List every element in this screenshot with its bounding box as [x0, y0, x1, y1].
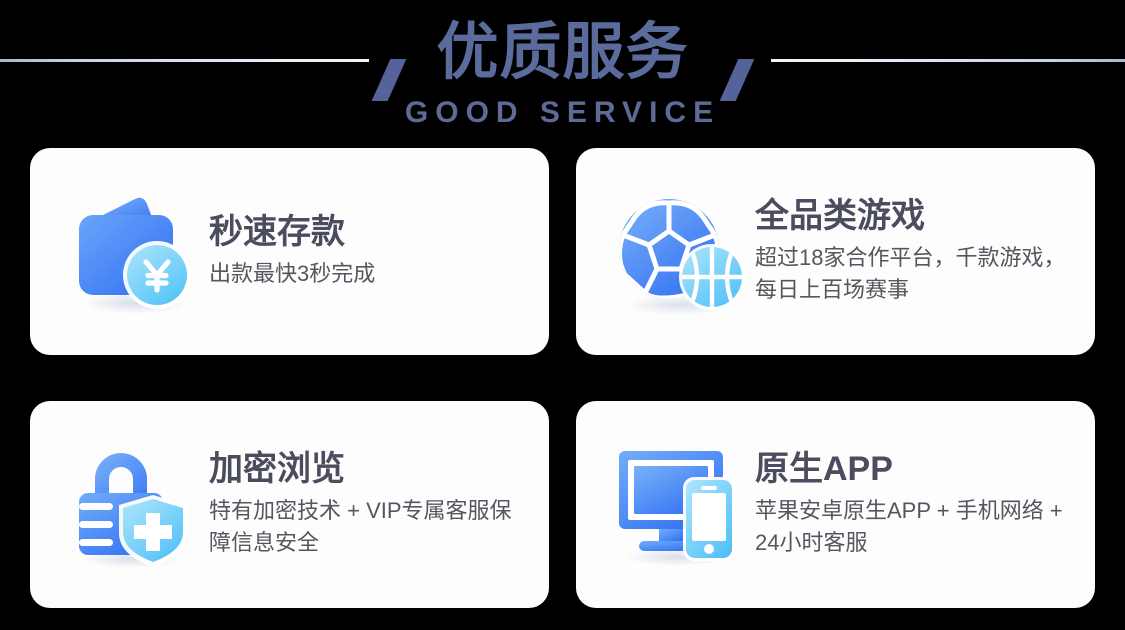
- feature-card-desc: 苹果安卓原生APP + 手机网络 + 24小时客服: [755, 495, 1073, 557]
- lock-shield-icon: [60, 432, 205, 577]
- title-row: 优质服务: [0, 14, 1125, 92]
- feature-card-encryption[interactable]: 加密浏览 特有加密技术 + VIP专属客服保障信息安全: [30, 401, 549, 608]
- feature-card-desc: 特有加密技术 + VIP专属客服保障信息安全: [209, 495, 527, 557]
- soccer-basketball-icon: [606, 179, 751, 324]
- monitor-phone-icon: [606, 432, 751, 577]
- decorative-rule-right: [699, 23, 1125, 83]
- rule-slash-left: [371, 59, 406, 101]
- feature-card-games[interactable]: 全品类游戏 超过18家合作平台，千款游戏，每日上百场赛事: [576, 148, 1095, 355]
- page-title: 优质服务: [427, 22, 699, 84]
- feature-card-text: 全品类游戏 超过18家合作平台，千款游戏，每日上百场赛事: [751, 198, 1077, 305]
- feature-card-native-app[interactable]: 原生APP 苹果安卓原生APP + 手机网络 + 24小时客服: [576, 401, 1095, 608]
- decorative-rule-left: [0, 23, 427, 83]
- feature-card-title: 秒速存款: [209, 214, 527, 251]
- rule-line-right: [771, 59, 1125, 62]
- feature-card-title: 原生APP: [755, 451, 1073, 488]
- page-subtitle: GOOD SERVICE: [0, 98, 1125, 128]
- feature-card-desc: 出款最快3秒完成: [209, 258, 527, 289]
- feature-card-text: 加密浏览 特有加密技术 + VIP专属客服保障信息安全: [205, 451, 531, 558]
- feature-card-text: 原生APP 苹果安卓原生APP + 手机网络 + 24小时客服: [751, 451, 1077, 558]
- feature-card-deposit[interactable]: 秒速存款 出款最快3秒完成: [30, 148, 549, 355]
- feature-card-desc: 超过18家合作平台，千款游戏，每日上百场赛事: [755, 242, 1073, 304]
- feature-card-title: 加密浏览: [209, 451, 527, 488]
- feature-card-grid: 秒速存款 出款最快3秒完成: [30, 148, 1095, 608]
- rule-slash-right: [719, 59, 754, 101]
- page-header: 优质服务 GOOD SERVICE: [0, 0, 1125, 142]
- wallet-yen-icon: [60, 179, 205, 324]
- rule-line-left: [0, 59, 369, 62]
- service-highlights-page: 优质服务 GOOD SERVICE: [0, 0, 1125, 630]
- feature-card-title: 全品类游戏: [755, 198, 1073, 235]
- feature-card-text: 秒速存款 出款最快3秒完成: [205, 214, 531, 290]
